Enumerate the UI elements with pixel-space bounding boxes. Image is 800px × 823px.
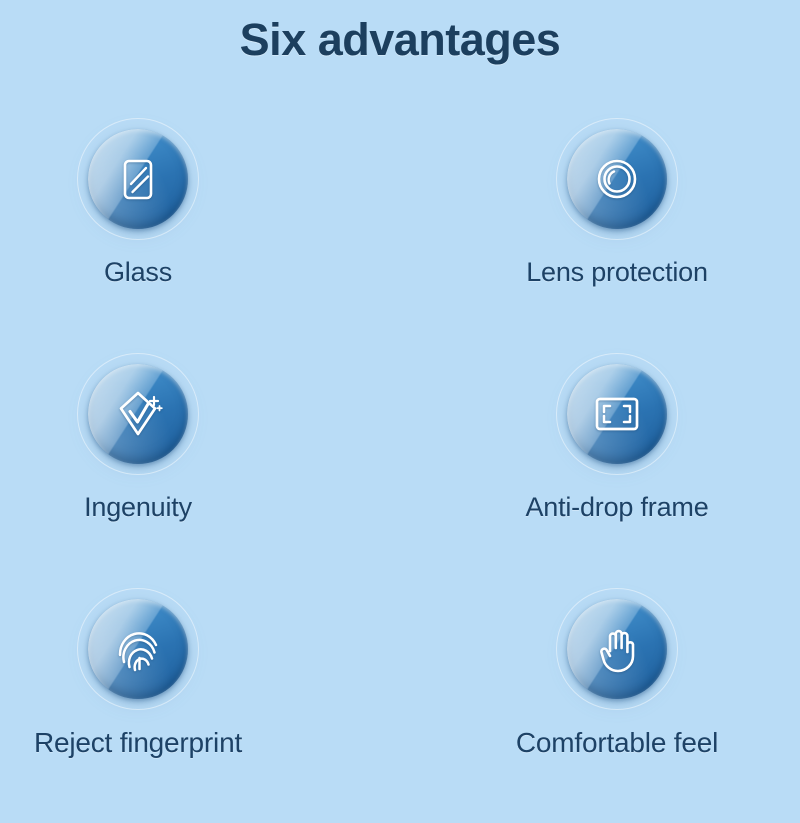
feature-badge xyxy=(77,118,199,240)
feature-label: Glass xyxy=(104,257,172,288)
glass-screen-protector-icon xyxy=(77,118,199,240)
feature-item-anti-drop-frame: Anti-drop frame xyxy=(383,353,800,588)
feature-label: Ingenuity xyxy=(84,492,192,523)
feature-item-lens-protection: Lens protection xyxy=(383,118,800,353)
feature-badge xyxy=(556,588,678,710)
feature-label: Reject fingerprint xyxy=(34,727,242,759)
feature-grid: Glass Lens protection xyxy=(0,118,800,823)
feature-item-comfortable-feel: Comfortable feel xyxy=(383,588,800,823)
six-advantages-infographic: Six advantages Glass xyxy=(0,0,800,800)
diamond-check-sparkle-icon xyxy=(77,353,199,475)
fingerprint-icon xyxy=(77,588,199,710)
page-title: Six advantages xyxy=(0,14,800,66)
open-hand-icon xyxy=(556,588,678,710)
feature-badge xyxy=(556,118,678,240)
camera-lens-icon xyxy=(556,118,678,240)
feature-label: Lens protection xyxy=(526,257,708,288)
feature-badge xyxy=(77,588,199,710)
feature-label: Comfortable feel xyxy=(516,727,718,759)
feature-label: Anti-drop frame xyxy=(525,492,708,523)
corner-bracket-frame-icon xyxy=(556,353,678,475)
feature-badge xyxy=(556,353,678,475)
feature-badge xyxy=(77,353,199,475)
